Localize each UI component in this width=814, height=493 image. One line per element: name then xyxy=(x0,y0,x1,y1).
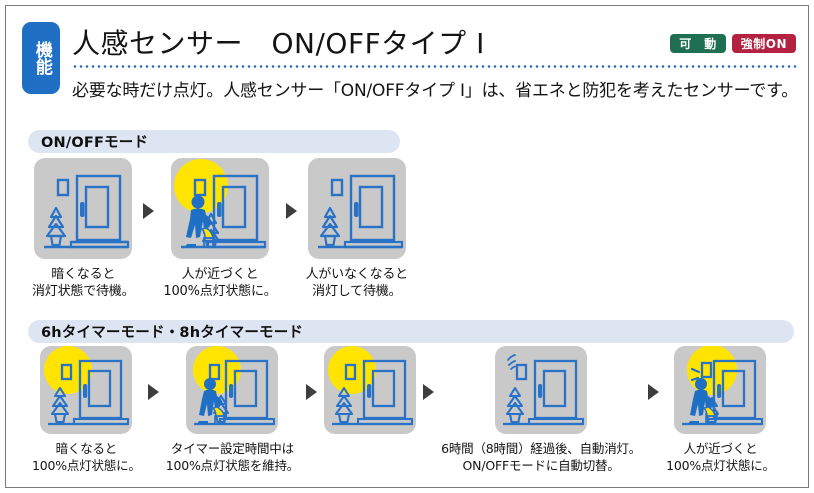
timer-step-4-caption: 6時間（8時間）経過後、自動消灯。 ON/OFFモードに自動切替。 xyxy=(441,441,641,474)
function-tab-label: 機能 xyxy=(32,41,50,75)
timer-step-2-caption: タイマー設定時間中は 100%点灯状態を維持。 xyxy=(166,441,299,474)
onoff-step-3: 人がいなくなると 消灯して待機。 xyxy=(306,158,408,300)
onoff-step-2-caption: 人が近づくと 100%点灯状態に。 xyxy=(163,266,276,300)
timer-step-5: 人が近づくと 100%点灯状態に。 xyxy=(666,346,775,474)
timer-step-1-caption: 暗くなると 100%点灯状態に。 xyxy=(32,441,141,474)
page-subtitle: 必要な時だけ点灯。人感センサー「ON/OFFタイプ I」は、省エネと防犯を考えた… xyxy=(72,76,798,101)
section-bar-onoff: ON/OFFモード xyxy=(28,130,400,153)
badge-kadou: 可 動 xyxy=(670,34,726,53)
content-frame: 機能 人感センサー ON/OFFタイプ I 必要な時だけ点灯。人感センサー「ON… xyxy=(5,5,809,488)
page-title: 人感センサー ON/OFFタイプ I xyxy=(72,22,485,62)
scene-timer-reactivate xyxy=(674,346,766,434)
function-tab: 機能 xyxy=(22,22,60,94)
timer-step-3 xyxy=(324,346,416,441)
scene-timer-still-on xyxy=(324,346,416,434)
title-divider xyxy=(72,65,798,68)
onoff-step-row: 暗くなると 消灯状態で待機。 xyxy=(32,158,408,300)
section-bar-timer: 6hタイマーモード・8hタイマーモード xyxy=(28,320,794,343)
scene-timer-dark-on xyxy=(40,346,132,434)
timer-step-row: 暗くなると 100%点灯状態に。 xyxy=(32,346,775,474)
badge-group: 可 動 強制ON xyxy=(670,34,796,53)
onoff-step-3-caption: 人がいなくなると 消灯して待機。 xyxy=(306,266,408,300)
wifi-signal xyxy=(508,355,515,369)
page-root: 機能 人感センサー ON/OFFタイプ I 必要な時だけ点灯。人感センサー「ON… xyxy=(0,0,814,493)
onoff-step-1-caption: 暗くなると 消灯状態で待機。 xyxy=(32,266,134,300)
scene-timer-person-hold xyxy=(186,346,278,434)
arrow-icon xyxy=(143,203,154,219)
arrow-icon xyxy=(148,384,159,400)
timer-step-4: 6時間（8時間）経過後、自動消灯。 ON/OFFモードに自動切替。 xyxy=(441,346,641,474)
scene-no-person-off xyxy=(308,158,406,259)
timer-step-5-caption: 人が近づくと 100%点灯状態に。 xyxy=(666,441,775,474)
header: 機能 人感センサー ON/OFFタイプ I 必要な時だけ点灯。人感センサー「ON… xyxy=(6,6,810,106)
arrow-icon xyxy=(423,384,434,400)
onoff-step-2: 人が近づくと 100%点灯状態に。 xyxy=(163,158,276,300)
arrow-icon xyxy=(286,203,297,219)
section-bar-onoff-label: ON/OFFモード xyxy=(28,131,148,152)
badge-kyousei-on: 強制ON xyxy=(732,34,796,53)
section-bar-timer-label: 6hタイマーモード・8hタイマーモード xyxy=(28,321,303,342)
scene-timer-auto-off xyxy=(495,346,587,434)
arrow-icon xyxy=(648,384,659,400)
onoff-step-1: 暗くなると 消灯状態で待機。 xyxy=(32,158,134,300)
scene-dark-standby xyxy=(34,158,132,259)
arrow-icon xyxy=(306,384,317,400)
timer-step-2: タイマー設定時間中は 100%点灯状態を維持。 xyxy=(166,346,299,474)
scene-person-approach-lit xyxy=(171,158,269,259)
timer-step-1: 暗くなると 100%点灯状態に。 xyxy=(32,346,141,474)
